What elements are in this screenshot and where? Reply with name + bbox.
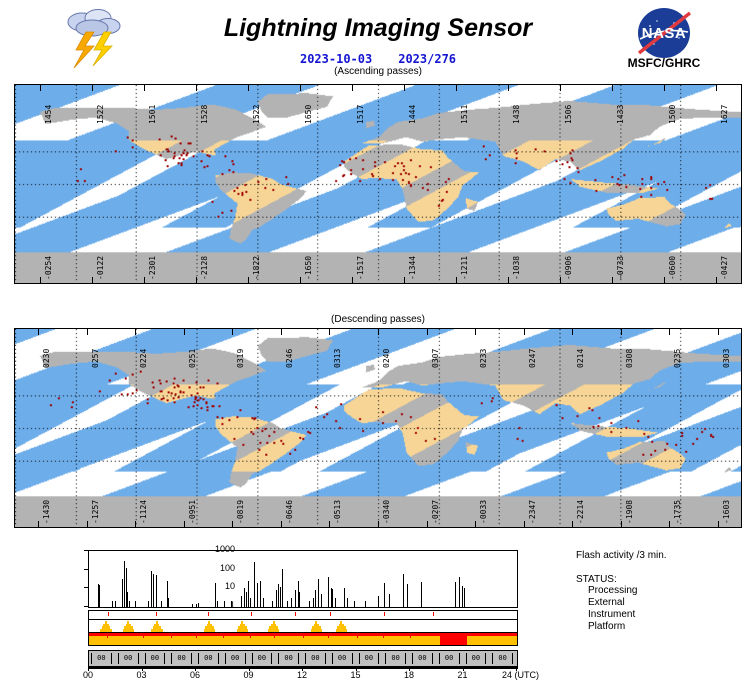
processing-mark — [330, 612, 331, 616]
legend-item-external: External — [576, 597, 752, 609]
platform-cell: 00 — [305, 653, 326, 664]
instrument-mark — [274, 633, 275, 638]
platform-cell: 00 — [385, 653, 406, 664]
flash-spike — [291, 598, 292, 607]
orbit-time-label: 0319 — [236, 349, 245, 368]
instrument-mark — [171, 633, 172, 638]
ascending-map-canvas — [14, 84, 742, 284]
flash-spike — [421, 582, 422, 607]
day-of-year: 2023/276 — [398, 52, 456, 66]
time-tick-label: 00 — [73, 670, 103, 680]
observation-date: 2023-10-03 — [300, 52, 372, 66]
orbit-tick — [560, 84, 561, 91]
orbit-time-label: -0819 — [236, 500, 245, 524]
agency-caption: MSFC/GHRC — [612, 56, 716, 70]
orbit-tick — [475, 328, 476, 335]
flash-spike — [148, 601, 149, 607]
orbit-tick — [378, 521, 379, 528]
instrument-fault-span — [440, 633, 467, 645]
instrument-mark — [107, 633, 108, 638]
orbit-tick — [92, 84, 93, 91]
platform-cell: 00 — [439, 653, 460, 664]
ascending-caption: (Ascending passes) — [150, 66, 606, 77]
platform-cell: 00 — [359, 653, 380, 664]
flash-spike — [260, 581, 261, 607]
time-tick-label: 06 — [180, 670, 210, 680]
legend-status-title: STATUS: — [576, 574, 752, 585]
flash-spike — [192, 604, 193, 607]
orbit-tick — [87, 328, 88, 335]
orbit-time-label: 1522 — [252, 105, 261, 124]
orbit-tick — [524, 328, 525, 335]
orbit-tick — [612, 84, 613, 91]
orbit-time-label: -1430 — [42, 500, 51, 524]
orbit-time-label: 1627 — [720, 105, 729, 124]
flash-spike — [250, 598, 251, 607]
orbit-tick — [144, 84, 145, 91]
processing-mark — [208, 612, 209, 616]
flash-spike — [129, 601, 130, 607]
orbit-time-label: 0233 — [479, 349, 488, 368]
orbit-tick — [196, 84, 197, 91]
flash-spike — [161, 601, 162, 607]
platform-cell: 00 — [198, 653, 219, 664]
orbit-time-label: -0600 — [668, 256, 677, 280]
orbit-tick — [404, 84, 405, 91]
orbit-tick — [456, 277, 457, 284]
orbit-tick — [664, 277, 665, 284]
instrument-mark — [250, 633, 251, 638]
processing-mark — [251, 612, 252, 616]
flash-spike — [332, 589, 333, 607]
flash-spike — [241, 596, 242, 607]
page-title: Lightning Imaging Sensor — [150, 14, 606, 43]
time-tick-label: 12 — [287, 670, 317, 680]
orbit-tick — [232, 521, 233, 528]
status-row-platform: 00000000000000000000000000000000 — [88, 650, 518, 667]
flash-plot-y-tick — [84, 569, 89, 570]
orbit-time-label: -2128 — [200, 256, 209, 280]
flash-spike — [365, 601, 366, 607]
orbit-time-label: -0646 — [285, 500, 294, 524]
status-row-instrument — [88, 632, 518, 646]
orbit-tick — [716, 84, 717, 91]
flash-plot-y-tick — [84, 550, 89, 551]
orbit-time-label: -2301 — [148, 256, 157, 280]
orbit-tick — [184, 328, 185, 335]
orbit-tick — [352, 277, 353, 284]
orbit-time-label: 0251 — [188, 349, 197, 368]
orbit-tick — [144, 277, 145, 284]
orbit-tick — [456, 84, 457, 91]
orbit-tick — [196, 277, 197, 284]
orbit-tick — [621, 328, 622, 335]
flash-spike — [459, 577, 460, 607]
orbit-time-label: 0257 — [91, 349, 100, 368]
processing-mark — [384, 612, 385, 616]
legend-item-platform: Platform — [576, 621, 752, 633]
orbit-tick — [718, 328, 719, 335]
platform-cell: 00 — [332, 653, 353, 664]
orbit-time-label: -1038 — [512, 256, 521, 280]
orbit-tick — [329, 521, 330, 528]
orbit-time-label: 1433 — [616, 105, 625, 124]
flash-spike — [309, 601, 310, 607]
orbit-time-label: 0303 — [722, 349, 731, 368]
orbit-time-label: 0246 — [285, 349, 294, 368]
orbit-tick — [427, 328, 428, 335]
flash-spike — [112, 601, 113, 607]
flash-spike — [153, 574, 154, 607]
orbit-time-label: -0340 — [382, 500, 391, 524]
orbit-tick — [572, 328, 573, 335]
flash-spike — [407, 584, 408, 607]
status-row-processing — [88, 610, 518, 619]
svg-text:NASA: NASA — [642, 25, 687, 42]
orbit-time-label: -0733 — [616, 256, 625, 280]
ascending-passes-map[interactable]: 1454152215011528152216501517144415111438… — [14, 84, 742, 284]
flash-plot-y-tick — [84, 606, 89, 607]
orbit-time-label: 0230 — [42, 349, 51, 368]
orbit-time-label: 1506 — [564, 105, 573, 124]
flash-plot-y-tick-label: 100 — [195, 563, 235, 573]
processing-mark — [156, 612, 157, 616]
flash-spike — [344, 588, 345, 607]
flash-spike — [347, 598, 348, 607]
flash-spike — [455, 582, 456, 607]
orbit-tick — [718, 521, 719, 528]
orbit-tick — [664, 84, 665, 91]
flash-spike — [328, 577, 329, 607]
orbit-time-label: 0214 — [576, 349, 585, 368]
flash-spike — [257, 583, 258, 607]
orbit-tick — [560, 277, 561, 284]
orbit-time-label: 1511 — [460, 105, 469, 124]
orbit-tick — [352, 84, 353, 91]
orbit-time-label: 1501 — [148, 105, 157, 124]
flash-spike — [156, 575, 157, 607]
orbit-time-label: -1908 — [625, 500, 634, 524]
flash-plot-y-tick-label: 1000 — [195, 544, 235, 554]
orbit-tick — [40, 84, 41, 91]
orbit-time-label: -0254 — [44, 256, 53, 280]
orbit-tick — [92, 277, 93, 284]
orbit-tick — [38, 521, 39, 528]
instrument-mark — [223, 633, 224, 638]
orbit-time-label: 1528 — [200, 105, 209, 124]
flash-plot-y-tick-label: 10 — [195, 581, 235, 591]
instrument-mark — [357, 633, 358, 638]
orbit-tick — [281, 521, 282, 528]
orbit-time-label: -0207 — [431, 500, 440, 524]
platform-cell: 00 — [118, 653, 139, 664]
flash-spike — [335, 598, 336, 607]
processing-mark — [295, 612, 296, 616]
orbit-time-label: -1124 — [139, 500, 148, 524]
flash-spike — [168, 598, 169, 607]
orbit-tick — [508, 84, 509, 91]
processing-mark — [433, 612, 434, 616]
flash-spike — [287, 601, 288, 607]
orbit-tick — [572, 521, 573, 528]
flash-spike — [299, 592, 300, 607]
orbit-time-label: -1344 — [408, 256, 417, 280]
instrument-mark — [383, 633, 384, 638]
instrument-mark — [410, 633, 411, 638]
flash-spike — [295, 590, 296, 607]
time-tick-label: 03 — [127, 670, 157, 680]
flash-spike — [315, 590, 316, 607]
orbit-time-label: 0313 — [333, 349, 342, 368]
flash-spike — [263, 598, 264, 607]
orbit-time-label: -1735 — [673, 500, 682, 524]
flash-spike — [313, 598, 314, 607]
orbit-tick — [40, 277, 41, 284]
platform-cell: 00 — [145, 653, 166, 664]
orbit-tick — [475, 521, 476, 528]
orbit-tick — [135, 328, 136, 335]
platform-cell: 00 — [225, 653, 246, 664]
orbit-time-label: 1438 — [512, 105, 521, 124]
time-tick-label: 21 — [448, 670, 478, 680]
orbit-time-label: -1603 — [722, 500, 731, 524]
orbit-time-label: 0308 — [625, 349, 634, 368]
platform-cell: 00 — [466, 653, 487, 664]
platform-cell: 00 — [412, 653, 433, 664]
orbit-time-label: 1517 — [356, 105, 365, 124]
orbit-tick — [232, 328, 233, 335]
flash-spike — [384, 583, 385, 607]
flash-spike — [282, 569, 283, 607]
orbit-tick — [300, 277, 301, 284]
orbit-tick — [508, 277, 509, 284]
orbit-time-label: 1650 — [304, 105, 313, 124]
orbit-time-label: 0307 — [431, 349, 440, 368]
orbit-time-label: 1500 — [668, 105, 677, 124]
instrument-mark — [143, 633, 144, 638]
flash-spike — [272, 601, 273, 607]
thunderstorm-cloud-lightning-icon — [60, 6, 128, 68]
orbit-tick — [281, 328, 282, 335]
flash-spike — [99, 585, 100, 607]
chart-legend: Flash activity /3 min. STATUS: Processin… — [576, 550, 752, 633]
flash-spike — [403, 574, 404, 607]
flash-spike — [354, 601, 355, 607]
orbit-time-label: -1517 — [356, 256, 365, 280]
orbit-time-label: 0224 — [139, 349, 148, 368]
orbit-tick — [300, 84, 301, 91]
platform-cell: 00 — [492, 653, 513, 664]
flash-spike — [115, 601, 116, 607]
flash-spike — [151, 571, 152, 607]
orbit-time-label: 1454 — [44, 105, 53, 124]
flash-spike — [254, 562, 255, 607]
orbit-time-label: 0247 — [528, 349, 537, 368]
orbit-time-label: -0513 — [333, 500, 342, 524]
orbit-time-label: -2214 — [576, 500, 585, 524]
orbit-time-label: 0235 — [673, 349, 682, 368]
flash-activity-panel: 1000100101 00000000000000000000000000000… — [0, 546, 756, 680]
orbit-time-label: -1822 — [252, 256, 261, 280]
flash-spike — [321, 594, 322, 607]
flash-spike — [135, 601, 136, 607]
orbit-tick — [38, 328, 39, 335]
orbit-tick — [621, 521, 622, 528]
orbit-tick — [716, 277, 717, 284]
orbit-time-label: -0033 — [479, 500, 488, 524]
orbit-time-label: -0951 — [188, 500, 197, 524]
orbit-time-label: -1257 — [91, 500, 100, 524]
orbit-time-label: 1522 — [96, 105, 105, 124]
orbit-tick — [404, 277, 405, 284]
flash-plot-y-tick-label: 1 — [195, 600, 235, 610]
orbit-tick — [669, 521, 670, 528]
legend-item-processing: Processing — [576, 585, 752, 597]
utc-axis-label: 24 (UTC) — [502, 670, 539, 680]
legend-item-instrument: Instrument — [576, 609, 752, 621]
flash-plot-y-tick — [84, 587, 89, 588]
orbit-tick — [427, 521, 428, 528]
orbit-time-label: -0122 — [96, 256, 105, 280]
orbit-tick — [248, 84, 249, 91]
time-axis — [88, 667, 518, 669]
platform-cell: 00 — [278, 653, 299, 664]
flash-spike — [248, 581, 249, 607]
flash-spike — [318, 579, 319, 607]
descending-caption: (Descending passes) — [150, 314, 606, 325]
flash-activity-plot — [88, 550, 518, 608]
orbit-time-label: -2347 — [528, 500, 537, 524]
status-row-external — [88, 619, 518, 632]
flash-spike — [378, 596, 379, 607]
orbit-time-label: -0427 — [720, 256, 729, 280]
orbit-tick — [135, 521, 136, 528]
time-tick-label: 09 — [234, 670, 264, 680]
date-line: 2023-10-032023/276 — [150, 52, 606, 66]
orbit-tick — [329, 328, 330, 335]
processing-mark — [108, 612, 109, 616]
orbit-tick — [248, 277, 249, 284]
legend-flash-activity: Flash activity /3 min. — [576, 550, 752, 561]
instrument-mark — [328, 633, 329, 638]
flash-spike — [464, 588, 465, 607]
time-tick-label: 18 — [394, 670, 424, 680]
orbit-tick — [524, 521, 525, 528]
orbit-time-label: -0906 — [564, 256, 573, 280]
orbit-time-label: 0240 — [382, 349, 391, 368]
page-header: Lightning Imaging Sensor 2023-10-032023/… — [0, 0, 756, 78]
platform-cell: 00 — [252, 653, 273, 664]
instrument-mark — [196, 633, 197, 638]
instrument-mark — [303, 633, 304, 638]
orbit-time-label: 1444 — [408, 105, 417, 124]
descending-passes-map[interactable]: 0230025702240251031902460313024003070233… — [14, 328, 742, 528]
orbit-time-label: -1211 — [460, 256, 469, 280]
orbit-time-label: -1650 — [304, 256, 313, 280]
orbit-tick — [612, 277, 613, 284]
platform-cell: 00 — [91, 653, 112, 664]
time-tick-label: 15 — [341, 670, 371, 680]
orbit-tick — [184, 521, 185, 528]
orbit-tick — [669, 328, 670, 335]
orbit-tick — [378, 328, 379, 335]
orbit-tick — [87, 521, 88, 528]
flash-spike — [389, 594, 390, 607]
platform-cell: 00 — [171, 653, 192, 664]
